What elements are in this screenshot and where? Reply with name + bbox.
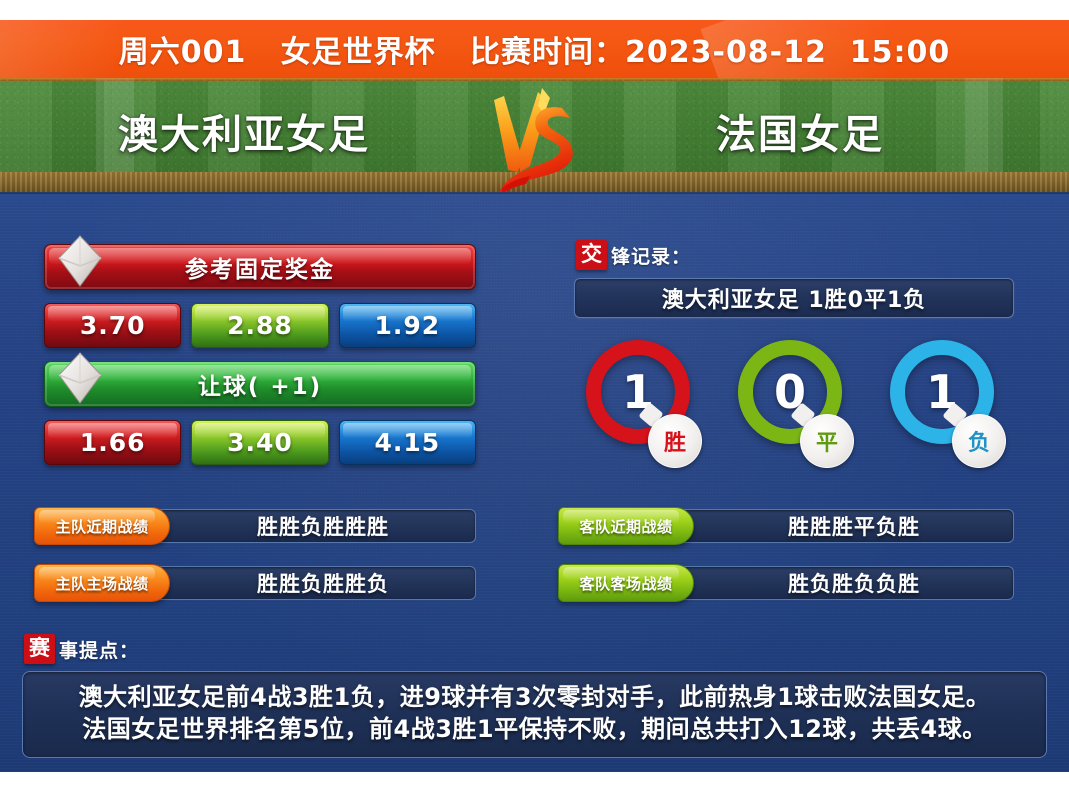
analysis-section-label: 赛 事提点： — [24, 634, 1047, 664]
h2h-label-chip: 交 — [576, 240, 607, 270]
home-home-form-results: 胜胜负胜胜负 — [154, 566, 476, 600]
h2h-ring-draw: 0 平 — [738, 340, 850, 476]
handicap-odds-draw-value: 3.40 — [227, 428, 293, 457]
fixed-odds-lose-button[interactable]: 1.92 — [339, 303, 476, 348]
footer-spacer — [0, 772, 1069, 801]
away-recent-form-row: 客队近期战绩 胜胜胜平负胜 — [558, 508, 1014, 544]
h2h-ring-win: 1 胜 — [586, 340, 698, 476]
handicap-odds-row: 1.66 3.40 4.15 — [44, 420, 476, 465]
odds-section: 参考固定奖金 3.70 2.88 1.92 — [44, 244, 476, 465]
h2h-draw-badge: 平 — [800, 414, 854, 468]
fixed-odds-row: 3.70 2.88 1.92 — [44, 303, 476, 348]
away-away-form-row: 客队客场战绩 胜负胜负负胜 — [558, 565, 1014, 601]
handicap-odds-lose-button[interactable]: 4.15 — [339, 420, 476, 465]
handicap-odds-win-button[interactable]: 1.66 — [44, 420, 181, 465]
analysis-line-1: 澳大利亚女足前4战3胜1负，进9球并有3次零封对手，此前热身1球击败法国女足。 — [37, 681, 1032, 713]
home-recent-form-label: 主队近期战绩 — [34, 507, 170, 545]
header-title: 周六001 女足世界杯 比赛时间：2023-08-12 15:00 — [0, 20, 1069, 78]
home-team-name: 澳大利亚女足 — [118, 96, 370, 166]
analysis-section: 赛 事提点： 澳大利亚女足前4战3胜1负，进9球并有3次零封对手，此前热身1球击… — [22, 634, 1047, 758]
head-to-head-section: 交 锋记录： 澳大利亚女足 1胜0平1负 1 胜 0 平 1 负 — [574, 240, 1014, 480]
fixed-odds-win-button[interactable]: 3.70 — [44, 303, 181, 348]
away-away-form-label: 客队客场战绩 — [558, 564, 694, 602]
diamond-icon — [57, 351, 103, 405]
home-home-form-row: 主队主场战绩 胜胜负胜胜负 — [34, 565, 476, 601]
header-band: 周六001 女足世界杯 比赛时间：2023-08-12 15:00 — [0, 20, 1069, 78]
away-away-form-results: 胜负胜负负胜 — [678, 566, 1014, 600]
fixed-odds-draw-value: 2.88 — [227, 311, 293, 340]
h2h-win-badge: 胜 — [648, 414, 702, 468]
h2h-label-text: 锋记录： — [611, 242, 691, 269]
handicap-odds-win-value: 1.66 — [80, 428, 146, 457]
vs-icon — [478, 84, 584, 196]
analysis-box: 澳大利亚女足前4战3胜1负，进9球并有3次零封对手，此前热身1球击败法国女足。 … — [22, 671, 1047, 758]
away-away-form-label-text: 客队客场战绩 — [579, 573, 672, 594]
away-team-name: 法国女足 — [716, 96, 884, 166]
h2h-lose-badge: 负 — [952, 414, 1006, 468]
analysis-label-chip: 赛 — [24, 634, 55, 664]
handicap-header: 让球( +1) — [44, 361, 476, 407]
home-home-form-label: 主队主场战绩 — [34, 564, 170, 602]
fixed-odds-lose-value: 1.92 — [374, 311, 440, 340]
home-recent-form-results: 胜胜负胜胜胜 — [154, 509, 476, 543]
h2h-rings: 1 胜 0 平 1 负 — [574, 340, 1014, 480]
fixed-odds-header: 参考固定奖金 — [44, 244, 476, 290]
h2h-ring-lose: 1 负 — [890, 340, 1002, 476]
away-recent-form-label-text: 客队近期战绩 — [579, 516, 672, 537]
handicap-header-label: 让球( +1) — [198, 367, 322, 401]
away-recent-form-results: 胜胜胜平负胜 — [678, 509, 1014, 543]
home-recent-form-label-text: 主队近期战绩 — [55, 516, 148, 537]
match-preview-graphic: 周六001 女足世界杯 比赛时间：2023-08-12 15:00 澳大利亚女足… — [0, 0, 1069, 801]
home-recent-form-row: 主队近期战绩 胜胜负胜胜胜 — [34, 508, 476, 544]
analysis-line-2: 法国女足世界排名第5位，前4战3胜1平保持不败，期间总共打入12球，共丢4球。 — [37, 713, 1032, 745]
fixed-odds-header-label: 参考固定奖金 — [185, 250, 335, 284]
fixed-odds-win-value: 3.70 — [80, 311, 146, 340]
away-recent-form-label: 客队近期战绩 — [558, 507, 694, 545]
h2h-section-label: 交 锋记录： — [576, 240, 1014, 270]
home-home-form-label-text: 主队主场战绩 — [55, 573, 148, 594]
handicap-odds-draw-button[interactable]: 3.40 — [191, 420, 328, 465]
handicap-odds-lose-value: 4.15 — [374, 428, 440, 457]
analysis-label-text: 事提点： — [59, 636, 139, 663]
fixed-odds-draw-button[interactable]: 2.88 — [191, 303, 328, 348]
h2h-summary: 澳大利亚女足 1胜0平1负 — [574, 278, 1014, 318]
